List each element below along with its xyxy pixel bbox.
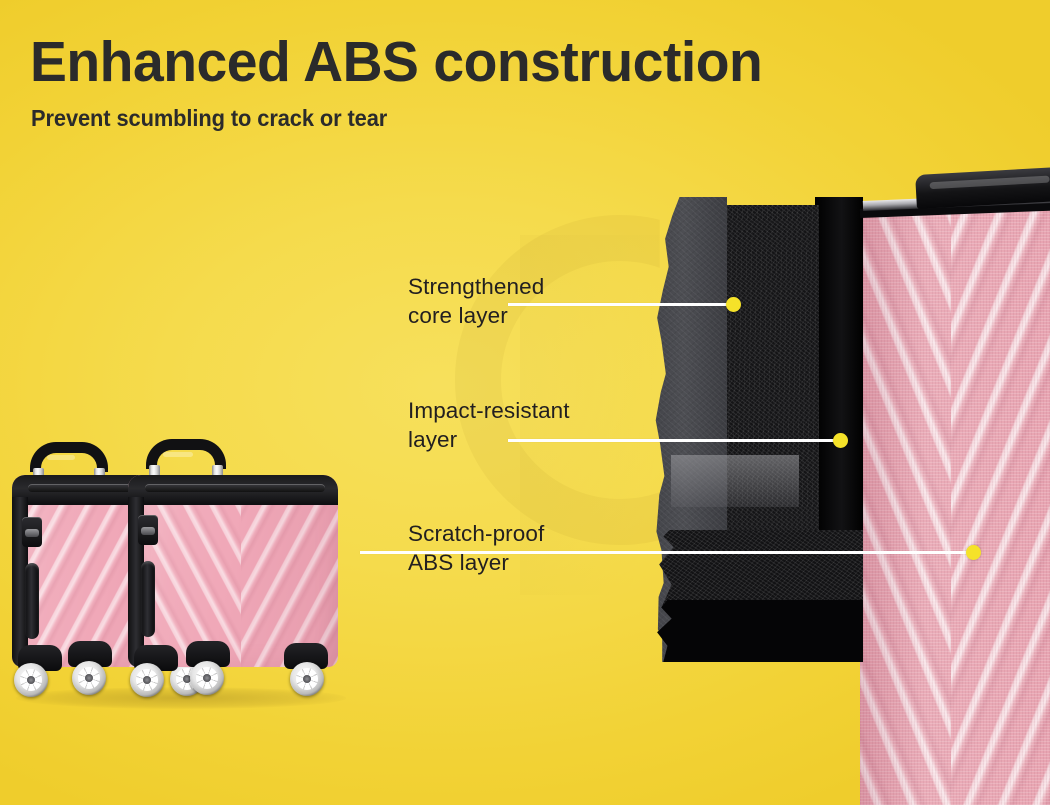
page-subtitle: Prevent scumbling to crack or tear (31, 105, 387, 132)
leader-line-impact-resistant-layer (508, 439, 840, 442)
callout-label-strengthened-core-layer: Strengthened core layer (408, 272, 544, 331)
leader-line-scratch-proof-abs-layer (360, 551, 973, 554)
suitcase-lid-seam (128, 475, 338, 505)
lower-solid-black-block (655, 600, 863, 662)
side-carry-handle (141, 561, 155, 637)
tsa-lock (138, 515, 158, 545)
spinner-wheel (72, 661, 106, 695)
abs-shell-cross-section (655, 175, 1050, 805)
infographic-canvas: Enhanced ABS construction Prevent scumbl… (0, 0, 1050, 805)
spinner-wheel (290, 662, 324, 696)
lower-textured-black-block (655, 530, 863, 608)
suitcase-front (128, 439, 338, 697)
callout-label-scratch-proof-abs-layer: Scratch-proof ABS layer (408, 519, 544, 578)
spinner-wheel (14, 663, 48, 697)
callout-dot-impact-resistant-layer (833, 433, 848, 448)
product-photo (0, 265, 390, 755)
spinner-wheel (130, 663, 164, 697)
shell-shading (860, 203, 1050, 805)
callout-label-impact-resistant-layer: Impact-resistant layer (408, 396, 570, 455)
tsa-lock (22, 517, 42, 547)
side-carry-handle (25, 563, 39, 639)
core-layer-highlight-patch (671, 455, 799, 507)
spinner-wheel (190, 661, 224, 695)
top-carry-handle (915, 164, 1050, 209)
abs-layer-pink-shell (860, 203, 1050, 805)
callout-dot-strengthened-core-layer (726, 297, 741, 312)
suitcase-shell (128, 475, 338, 667)
leader-line-strengthened-core-layer (508, 303, 733, 306)
callout-dot-scratch-proof-abs-layer (966, 545, 981, 560)
page-title: Enhanced ABS construction (30, 34, 762, 91)
lower-black-texture (655, 530, 863, 608)
